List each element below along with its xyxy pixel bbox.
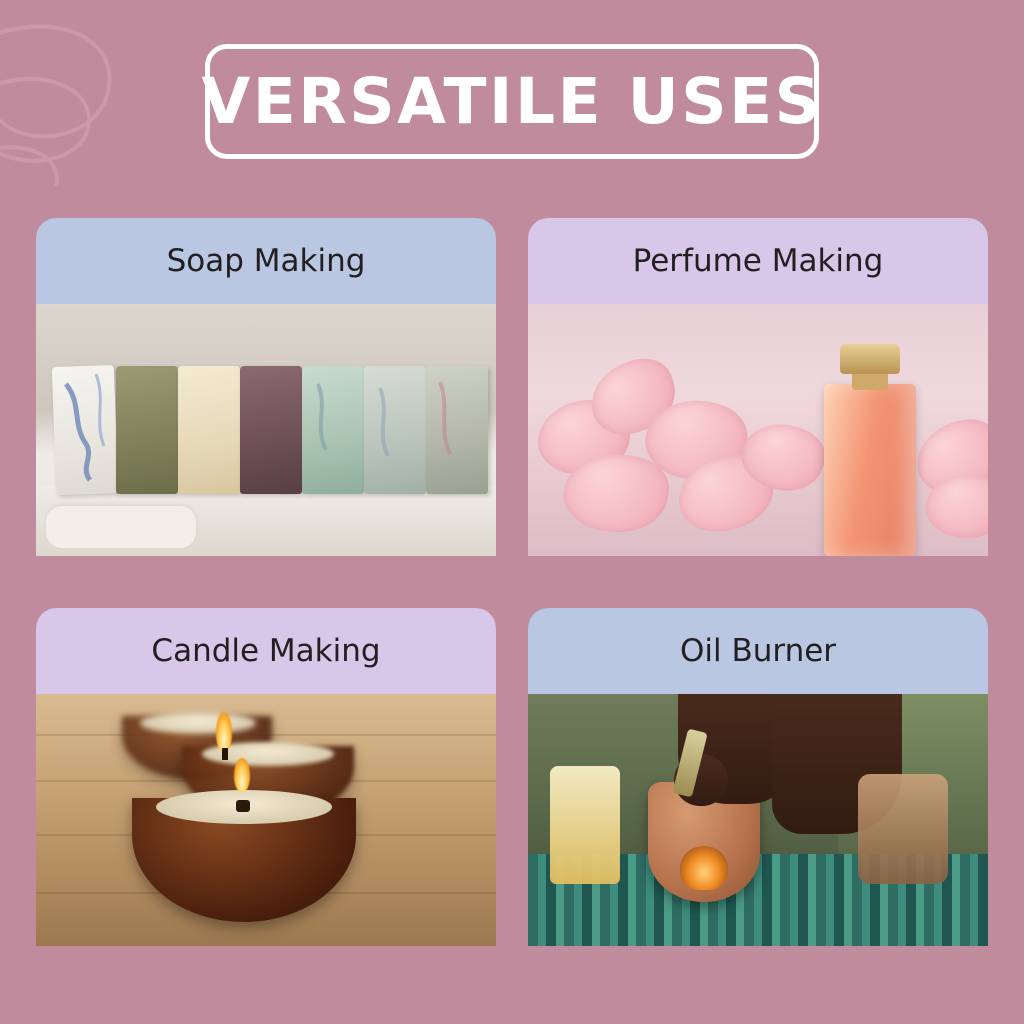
card-title-soap-making: Soap Making xyxy=(167,243,366,279)
card-perfume-making[interactable]: Perfume Making xyxy=(528,218,988,556)
card-title-oil-burner: Oil Burner xyxy=(680,633,836,669)
title-box: VERSATILE USES xyxy=(205,44,819,159)
uses-grid: Soap Making xyxy=(36,218,988,946)
card-title-candle-making: Candle Making xyxy=(151,633,380,669)
card-header-soap-making: Soap Making xyxy=(36,218,496,304)
card-candle-making[interactable]: Candle Making xyxy=(36,608,496,946)
card-header-candle-making: Candle Making xyxy=(36,608,496,694)
page-title: VERSATILE USES xyxy=(202,65,823,138)
soap-marbling xyxy=(36,304,496,556)
card-oil-burner[interactable]: Oil Burner xyxy=(528,608,988,946)
card-header-oil-burner: Oil Burner xyxy=(528,608,988,694)
card-header-perfume-making: Perfume Making xyxy=(528,218,988,304)
card-image-candle-making xyxy=(36,694,496,946)
poster-canvas: VERSATILE USES Soap Making xyxy=(0,0,1024,1024)
card-image-oil-burner xyxy=(528,694,988,946)
card-image-soap-making xyxy=(36,304,496,556)
card-title-perfume-making: Perfume Making xyxy=(633,243,884,279)
card-image-perfume-making xyxy=(528,304,988,556)
card-soap-making[interactable]: Soap Making xyxy=(36,218,496,556)
